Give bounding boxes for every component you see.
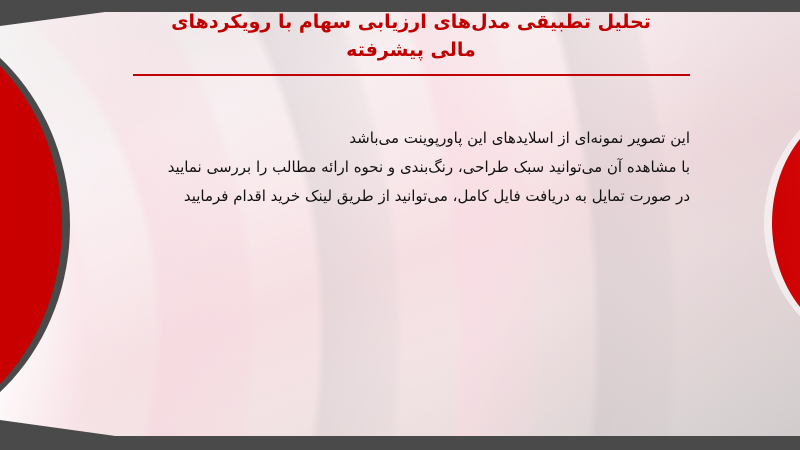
dark-bottom-bar bbox=[0, 436, 800, 450]
body-line-1: این تصویر نمونه‌ای از اسلایدهای این پاور… bbox=[90, 124, 690, 153]
body-line-3: در صورت تمایل به دریافت فایل کامل، می‌تو… bbox=[90, 182, 690, 211]
presentation-slide: تحلیل تطبیقی مدل‌های ارزیابی سهام با روی… bbox=[0, 0, 800, 450]
slide-body-text: این تصویر نمونه‌ای از اسلایدهای این پاور… bbox=[90, 124, 690, 211]
slide-title-line-1: تحلیل تطبیقی مدل‌های ارزیابی سهام با روی… bbox=[130, 8, 692, 36]
slide-title-line-2: مالی پیشرفته bbox=[130, 36, 692, 64]
body-line-2: با مشاهده آن می‌توانید سبک طراحی، رنگ‌بن… bbox=[90, 153, 690, 182]
slide-title: تحلیل تطبیقی مدل‌های ارزیابی سهام با روی… bbox=[130, 8, 692, 64]
title-underline-rule bbox=[133, 74, 690, 76]
background-sheen-overlay bbox=[0, 0, 800, 450]
